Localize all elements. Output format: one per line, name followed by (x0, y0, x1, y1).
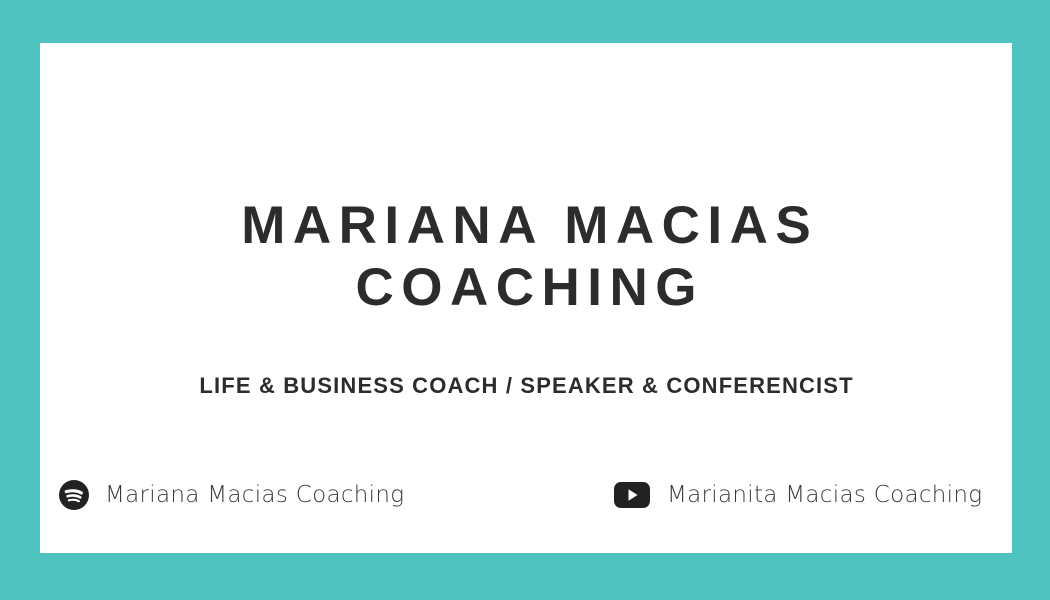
title-line-2: COACHING (40, 257, 1012, 319)
social-item-youtube[interactable]: Marianita Macias Coaching (612, 479, 982, 511)
slide-canvas: MARIANA MACIAS COACHING LIFE & BUSINESS … (0, 0, 1050, 600)
spotify-icon[interactable] (58, 479, 90, 511)
subtitle-tagline: LIFE & BUSINESS COACH / SPEAKER & CONFER… (40, 372, 1012, 400)
social-item-spotify[interactable]: Mariana Macias Coaching (58, 479, 404, 511)
business-card-panel: MARIANA MACIAS COACHING LIFE & BUSINESS … (40, 43, 1012, 553)
youtube-icon[interactable] (612, 479, 652, 511)
page-title: MARIANA MACIAS COACHING (40, 195, 1012, 319)
social-footer: Mariana Macias Coaching Marianita Macias… (40, 467, 1012, 553)
social-label-youtube: Marianita Macias Coaching (667, 480, 982, 510)
title-line-1: MARIANA MACIAS (40, 195, 1012, 257)
social-label-spotify: Mariana Macias Coaching (105, 480, 404, 510)
